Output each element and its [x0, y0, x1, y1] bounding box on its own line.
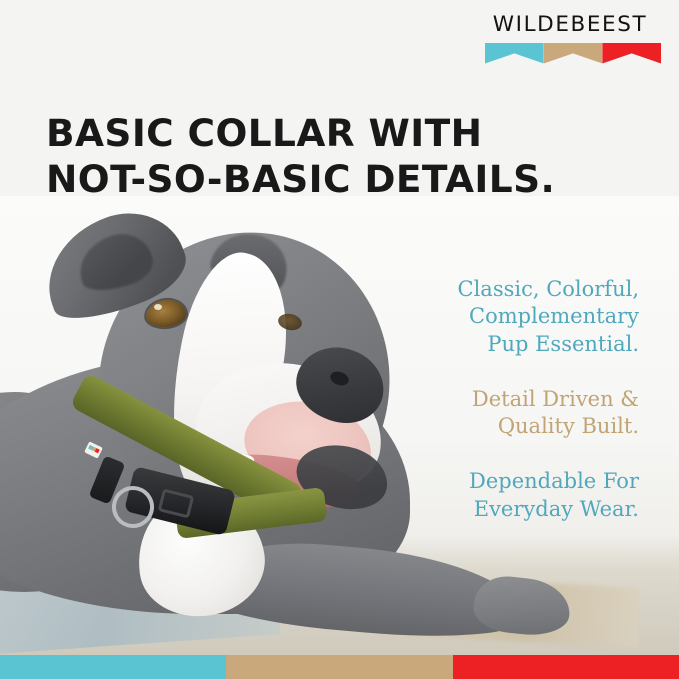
page-title: BASIC COLLAR WITH NOT-SO-BASIC DETAILS.: [46, 111, 606, 203]
brand-band-tan: [544, 43, 603, 64]
brand-wordmark: WILDEBEEST: [479, 14, 661, 36]
collar-tag-stripe-icon: [88, 445, 100, 453]
brand-band-teal: [485, 43, 544, 64]
bottom-segment-red: [453, 655, 679, 679]
headline-line-2: NOT-SO-BASIC DETAILS.: [46, 157, 606, 203]
headline-line-1: BASIC COLLAR WITH: [46, 111, 606, 157]
feature-line: Complementary: [389, 303, 639, 330]
bottom-color-bar: [0, 655, 679, 679]
feature-line: Everyday Wear.: [389, 496, 639, 523]
brand-chevron-bands: [485, 43, 661, 64]
feature-list: Classic, Colorful, Complementary Pup Ess…: [389, 276, 639, 523]
feature-line: Quality Built.: [389, 413, 639, 440]
bottom-segment-tan: [226, 655, 452, 679]
feature-dependable: Dependable For Everyday Wear.: [389, 468, 639, 523]
brand-band-red: [602, 43, 661, 64]
dog-eye-highlight: [154, 304, 162, 310]
product-advertisement: WILDEBEEST BASIC COLLAR WITH NOT-SO-BASI…: [0, 0, 679, 679]
feature-classic-colorful: Classic, Colorful, Complementary Pup Ess…: [389, 276, 639, 358]
bottom-segment-teal: [0, 655, 226, 679]
feature-detail-driven: Detail Driven & Quality Built.: [389, 386, 639, 441]
feature-line: Detail Driven &: [389, 386, 639, 413]
feature-line: Classic, Colorful,: [389, 276, 639, 303]
feature-line: Pup Essential.: [389, 331, 639, 358]
feature-line: Dependable For: [389, 468, 639, 495]
brand-logo[interactable]: WILDEBEEST: [479, 14, 661, 64]
